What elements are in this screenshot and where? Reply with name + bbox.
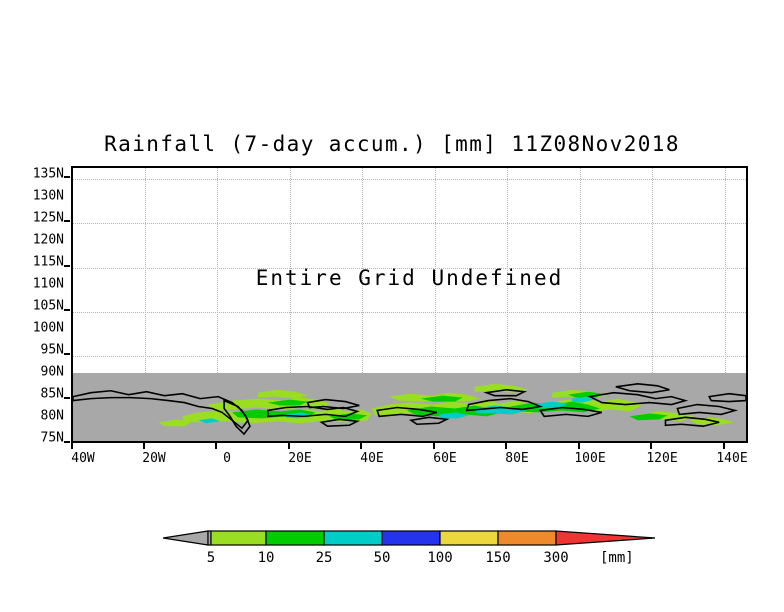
colorbar-tick-label: 25 bbox=[316, 550, 333, 566]
rainfall-field bbox=[73, 168, 746, 441]
x-axis-tick bbox=[723, 443, 725, 449]
colorbar-high-arrow bbox=[556, 531, 655, 545]
x-tick-label: 80E bbox=[505, 451, 528, 466]
colorbar-units-label: [mm] bbox=[600, 550, 634, 566]
y-tick-label: 75N bbox=[41, 431, 64, 446]
colorbar-segment bbox=[211, 531, 266, 545]
colorbar-segment bbox=[266, 531, 324, 545]
colorbar-swatches bbox=[163, 528, 655, 548]
x-tick-label: 40E bbox=[360, 451, 383, 466]
x-tick-label: 140E bbox=[716, 451, 747, 466]
colorbar-tick-label: 150 bbox=[485, 550, 510, 566]
colorbar: 5 10 25 50 100 150 300 bbox=[163, 528, 655, 548]
colorbar-segment bbox=[382, 531, 440, 545]
plot-area: Entire Grid Undefined bbox=[71, 166, 748, 443]
x-axis-tick bbox=[505, 443, 507, 449]
colorbar-tick-label: 300 bbox=[543, 550, 568, 566]
y-tick-label: 85N bbox=[41, 387, 64, 402]
x-tick-label: 40W bbox=[71, 451, 94, 466]
y-axis-tick bbox=[64, 397, 70, 399]
y-tick-label: 110N bbox=[33, 277, 64, 292]
y-tick-label: 90N bbox=[41, 365, 64, 380]
colorbar-segment bbox=[440, 531, 498, 545]
y-tick-label: 105N bbox=[33, 299, 64, 314]
colorbar-tick-label: 5 bbox=[207, 550, 215, 566]
y-tick-label: 120N bbox=[33, 233, 64, 248]
x-tick-label: 20W bbox=[142, 451, 165, 466]
y-axis-tick bbox=[64, 176, 70, 178]
x-tick-label: 120E bbox=[646, 451, 677, 466]
x-axis-tick bbox=[360, 443, 362, 449]
y-axis: 135N 130N 125N 120N 115N 110N 105N 100N … bbox=[0, 166, 64, 443]
y-axis-tick bbox=[64, 309, 70, 311]
y-axis-tick bbox=[64, 441, 70, 443]
y-tick-label: 80N bbox=[41, 409, 64, 424]
coastlines bbox=[73, 384, 746, 434]
x-tick-label: 0 bbox=[223, 451, 231, 466]
y-tick-label: 95N bbox=[41, 343, 64, 358]
x-tick-label: 60E bbox=[433, 451, 456, 466]
y-axis-tick bbox=[64, 220, 70, 222]
page-title: Rainfall (7-day accum.) [mm] 11Z08Nov201… bbox=[0, 132, 784, 156]
colorbar-tick-label: 50 bbox=[374, 550, 391, 566]
x-tick-label: 100E bbox=[574, 451, 605, 466]
x-axis-tick bbox=[215, 443, 217, 449]
y-tick-label: 135N bbox=[33, 167, 64, 182]
x-axis-tick bbox=[288, 443, 290, 449]
colorbar-segment bbox=[498, 531, 556, 545]
x-axis-tick bbox=[433, 443, 435, 449]
y-axis-tick bbox=[64, 265, 70, 267]
y-axis-tick bbox=[64, 353, 70, 355]
colorbar-tick-label: 10 bbox=[258, 550, 275, 566]
y-tick-label: 125N bbox=[33, 211, 64, 226]
colorbar-low-arrow bbox=[163, 531, 208, 545]
x-tick-label: 20E bbox=[288, 451, 311, 466]
x-axis: 40W 20W 0 20E 40E 60E 80E 100E 120E 140E bbox=[71, 443, 748, 473]
y-tick-label: 130N bbox=[33, 189, 64, 204]
x-axis-tick bbox=[578, 443, 580, 449]
y-tick-label: 115N bbox=[33, 255, 64, 270]
colorbar-segment bbox=[324, 531, 382, 545]
x-axis-tick bbox=[650, 443, 652, 449]
colorbar-tick-label: 100 bbox=[427, 550, 452, 566]
x-axis-tick bbox=[143, 443, 145, 449]
x-axis-tick bbox=[71, 443, 73, 449]
y-tick-label: 100N bbox=[33, 321, 64, 336]
